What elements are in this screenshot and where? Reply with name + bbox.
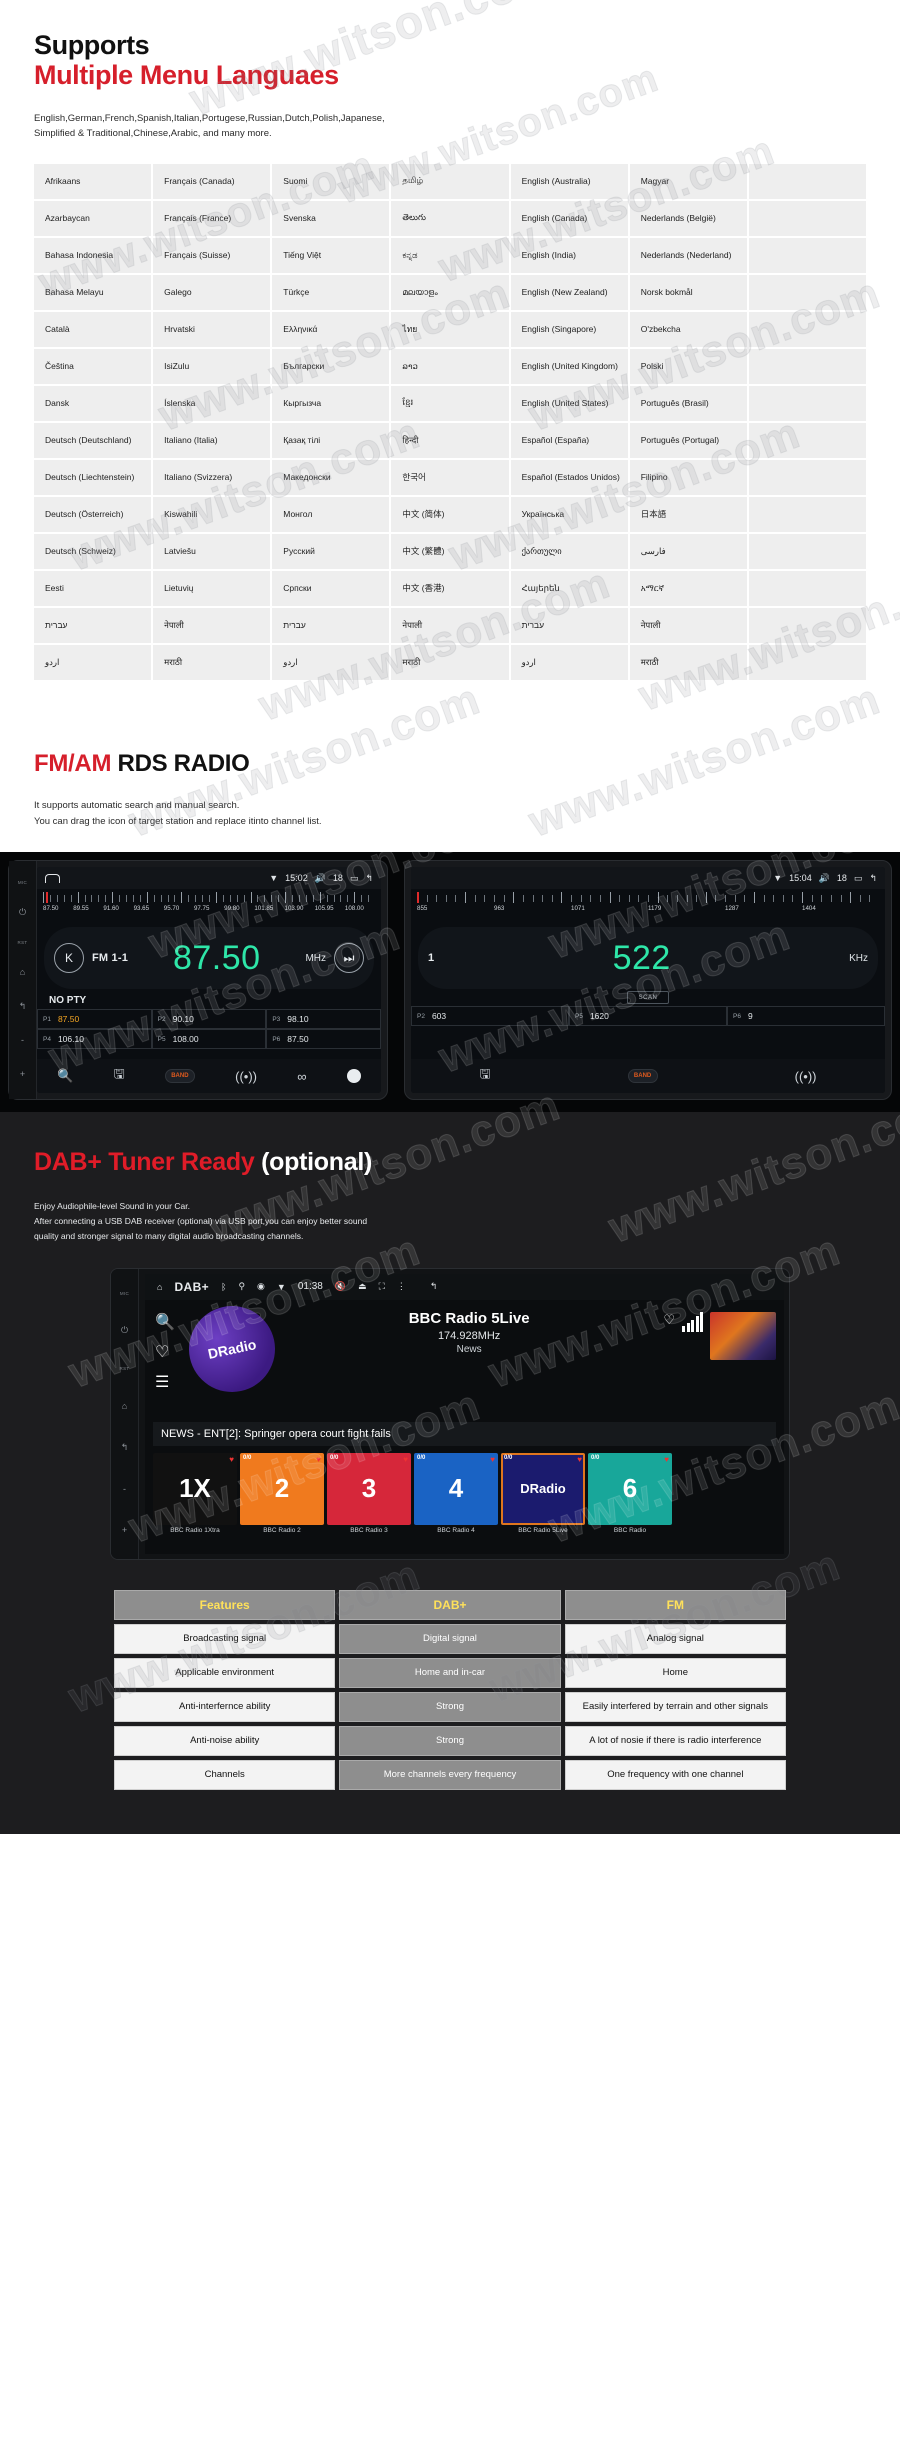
- am-tick-row: [417, 892, 879, 905]
- language-cell: English (New Zealand): [510, 274, 629, 311]
- am-frequency-unit: KHz: [849, 953, 868, 964]
- ruler-tick-label: 108.00: [345, 905, 375, 912]
- fm-description: It supports automatic search and manual …: [0, 798, 900, 830]
- dab-side-rail: MIC ⏻ RST ⌂ ↰ - +: [111, 1269, 139, 1559]
- comparison-cell: A lot of nosie if there is radio interfe…: [565, 1726, 786, 1756]
- language-cell: اردو: [271, 644, 390, 681]
- ruler-tick: [455, 895, 456, 902]
- station-glyph: 6: [623, 1473, 637, 1504]
- back-icon[interactable]: ↰: [118, 1441, 131, 1454]
- heart-icon[interactable]: ♥: [577, 1455, 582, 1464]
- fm-tuning-ruler[interactable]: 87.5089.5591.6093.6595.7097.7599.80101.8…: [37, 889, 381, 923]
- ruler-tick: [687, 895, 688, 902]
- language-cell: [748, 644, 867, 681]
- dab-description-line-3: quality and stronger signal to many digi…: [34, 1229, 900, 1244]
- language-cell: Español (Estados Unidos): [510, 459, 629, 496]
- preset-button[interactable]: P4106.10: [37, 1029, 152, 1049]
- station-slot-badge: 0/0: [504, 1455, 512, 1461]
- antenna-icon[interactable]: ((•)): [795, 1069, 817, 1084]
- power-icon[interactable]: ⏻: [16, 906, 29, 919]
- language-cell: 中文 (繁體): [390, 533, 509, 570]
- preset-button[interactable]: P398.10: [266, 1009, 381, 1029]
- ruler-tick-label: 963: [494, 905, 571, 912]
- ruler-tick: [764, 895, 765, 902]
- table-row: EestiLietuviųСрпски中文 (香港)Հայերենአማርኛ: [33, 570, 867, 607]
- eject-icon[interactable]: ⏏: [358, 1281, 367, 1292]
- wifi-icon: ▼: [773, 873, 782, 883]
- table-row: DanskÍslenskaКыргызчаខ្មែរEnglish (Unite…: [33, 385, 867, 422]
- fm-pty-label: NO PTY: [37, 989, 381, 1009]
- ruler-tick: [133, 895, 134, 902]
- am-preset-grid: P2603P51620P69: [411, 1006, 885, 1026]
- fm-frequency-display: 87.50: [136, 941, 297, 975]
- comparison-cell: Digital signal: [339, 1624, 560, 1654]
- ruler-tick: [161, 895, 162, 902]
- dab-station-tile[interactable]: 0/0♥6: [588, 1453, 672, 1525]
- ruler-tick-label: 91.60: [103, 905, 133, 912]
- comparison-cell: Anti-noise ability: [114, 1726, 335, 1756]
- loop-icon[interactable]: ∞: [297, 1069, 306, 1084]
- station-glyph: DRadio: [520, 1481, 566, 1496]
- preset-frequency: 106.10: [58, 1034, 84, 1044]
- am-ruler-labels: 8559631071117912871404: [417, 905, 879, 912]
- tuning-cursor[interactable]: [46, 892, 48, 903]
- preset-frequency: 9: [748, 1011, 753, 1021]
- fm-tick-row: [43, 892, 375, 905]
- favorite-icon[interactable]: ♡: [663, 1312, 675, 1328]
- ruler-tick: [264, 895, 265, 902]
- home-icon[interactable]: ⌂: [118, 1399, 131, 1412]
- heart-icon[interactable]: ♥: [490, 1455, 495, 1464]
- dab-station-tile[interactable]: 0/0♥2: [240, 1453, 324, 1525]
- preset-button[interactable]: P290.10: [152, 1009, 267, 1029]
- ruler-tick: [140, 895, 141, 902]
- ruler-tick: [821, 895, 822, 902]
- preset-button[interactable]: P5108.00: [152, 1029, 267, 1049]
- preset-button[interactable]: P687.50: [266, 1029, 381, 1049]
- ruler-tick: [648, 895, 649, 902]
- comparison-cell: Home: [565, 1658, 786, 1688]
- language-cell: עברית: [510, 607, 629, 644]
- heart-icon[interactable]: ♥: [664, 1455, 669, 1464]
- language-cell: Latviešu: [152, 533, 271, 570]
- band-button[interactable]: BAND: [165, 1069, 195, 1083]
- language-cell: اردو: [33, 644, 152, 681]
- ruler-tick-label: 89.55: [73, 905, 103, 912]
- dab-station-tile[interactable]: 0/0♥3: [327, 1453, 411, 1525]
- page-root: www.witson.com www.witson.com www.witson…: [0, 0, 900, 1834]
- tuning-cursor[interactable]: [417, 892, 419, 903]
- languages-section: www.witson.com www.witson.com www.witson…: [0, 0, 900, 716]
- ruler-tick: [64, 895, 65, 902]
- ruler-tick: [91, 895, 92, 902]
- ruler-tick: [361, 895, 362, 902]
- ruler-tick: [638, 895, 639, 902]
- comparison-cell: Analog signal: [565, 1624, 786, 1654]
- language-cell: Bahasa Melayu: [33, 274, 152, 311]
- ruler-tick: [513, 892, 514, 903]
- ruler-tick: [465, 892, 466, 903]
- languages-description: English,German,French,Spanish,Italian,Po…: [0, 112, 900, 141]
- language-cell: اردو: [510, 644, 629, 681]
- band-button[interactable]: BAND: [628, 1069, 658, 1083]
- home-icon[interactable]: ⌂: [157, 1282, 162, 1292]
- language-cell: Bahasa Indonesia: [33, 237, 152, 274]
- wifi-icon: ▼: [269, 873, 278, 883]
- volume-up-icon[interactable]: +: [16, 1068, 29, 1081]
- language-cell: ქართული: [510, 533, 629, 570]
- language-cell: Кыргызча: [271, 385, 390, 422]
- language-cell: Nederlands (Nederland): [629, 237, 748, 274]
- station-title: BBC Radio 5Live: [283, 1310, 655, 1327]
- table-row: AfrikaansFrançais (Canada)Suomiதமிழ்Engl…: [33, 163, 867, 200]
- language-cell: Español (España): [510, 422, 629, 459]
- language-cell: Català: [33, 311, 152, 348]
- language-cell: Čeština: [33, 348, 152, 385]
- language-cell: Français (Canada): [152, 163, 271, 200]
- ruler-tick: [202, 895, 203, 902]
- ruler-tick-label: 101.85: [254, 905, 284, 912]
- preset-frequency: 603: [432, 1011, 446, 1021]
- preset-button[interactable]: P69: [727, 1006, 885, 1026]
- dab-station-tile[interactable]: 0/0♥DRadio: [501, 1453, 585, 1525]
- search-icon[interactable]: 🔍: [57, 1068, 73, 1084]
- ruler-tick: [181, 892, 182, 903]
- ruler-tick: [533, 895, 534, 902]
- fm-volume-value: 18: [333, 873, 343, 883]
- language-cell: Монгол: [271, 496, 390, 533]
- ruler-tick: [523, 895, 524, 902]
- fm-screen: ▼ 15:02 🔊 18 ▭ ↰ 87.5089.5591.6093.6595.…: [37, 867, 381, 1093]
- station-glyph: 3: [362, 1473, 376, 1504]
- station-info: BBC Radio 5Live 174.928MHz News: [283, 1306, 655, 1418]
- ruler-tick: [725, 895, 726, 902]
- save-icon[interactable]: 🖫: [114, 1065, 125, 1087]
- comparison-cell: One frequency with one channel: [565, 1760, 786, 1790]
- preset-frequency: 90.10: [173, 1014, 194, 1024]
- ruler-tick: [223, 895, 224, 902]
- table-row: اردوमराठीاردوमराठीاردوमराठी: [33, 644, 867, 681]
- ruler-tick: [334, 895, 335, 902]
- volume-down-icon[interactable]: -: [16, 1034, 29, 1047]
- preset-number: P1: [43, 1016, 51, 1023]
- table-row: Deutsch (Schweiz)LatviešuРусский中文 (繁體)ქ…: [33, 533, 867, 570]
- ruler-tick-label: 1071: [571, 905, 648, 912]
- language-cell: Português (Brasil): [629, 385, 748, 422]
- comparison-cell: Broadcasting signal: [114, 1624, 335, 1654]
- language-cell: मराठी: [390, 644, 509, 681]
- ruler-tick: [561, 892, 562, 903]
- ruler-tick: [147, 892, 148, 903]
- language-cell: Հայերեն: [510, 570, 629, 607]
- language-cell: עברית: [33, 607, 152, 644]
- language-cell: தமிழ்: [390, 163, 509, 200]
- ruler-tick: [285, 892, 286, 903]
- language-cell: עברית: [271, 607, 390, 644]
- dab-description: Enjoy Audiophile-level Sound in your Car…: [0, 1199, 900, 1244]
- ruler-tick: [216, 892, 217, 903]
- ruler-tick: [677, 895, 678, 902]
- languages-description-line-1: English,German,French,Spanish,Italian,Po…: [34, 112, 900, 127]
- ruler-tick: [494, 895, 495, 902]
- preset-number: P5: [158, 1036, 166, 1043]
- mute-icon[interactable]: 🔇: [335, 1281, 346, 1292]
- preset-button[interactable]: P51620: [569, 1006, 727, 1026]
- signal-strength-icon: [682, 1312, 703, 1332]
- dab-station-name: BBC Radio 5Live: [501, 1527, 585, 1534]
- preset-frequency: 1620: [590, 1011, 609, 1021]
- ruler-tick: [320, 892, 321, 903]
- ruler-tick: [105, 895, 106, 902]
- language-cell: हिन्दी: [390, 422, 509, 459]
- preset-frequency: 108.00: [173, 1034, 199, 1044]
- preset-number: P3: [272, 1016, 280, 1023]
- volume-down-icon[interactable]: -: [118, 1482, 131, 1495]
- table-row: Deutsch (Liechtenstein)Italiano (Svizzer…: [33, 459, 867, 496]
- back-icon[interactable]: ↰: [430, 1281, 438, 1292]
- power-dot[interactable]: [347, 1069, 361, 1083]
- am-screen: ▼ 15:04 🔊 18 ▭ ↰ 8559631071117912871404 …: [411, 867, 885, 1093]
- mic-label: MIC: [120, 1291, 129, 1296]
- fm-side-rail: MIC ⏻ RST ⌂ ↰ - +: [9, 861, 37, 1099]
- language-cell: [748, 459, 867, 496]
- screenshot-icon[interactable]: ⛶: [379, 1281, 385, 1292]
- dab-station-names: BBC Radio 1XtraBBC Radio 2BBC Radio 3BBC…: [153, 1527, 776, 1534]
- next-station-button[interactable]: ⏭: [334, 943, 364, 973]
- page-title: Supports Multiple Menu Languaes: [0, 30, 900, 90]
- ruler-tick: [667, 895, 668, 902]
- station-glyph: 2: [275, 1473, 289, 1504]
- search-icon[interactable]: 🔍: [155, 1312, 175, 1332]
- ruler-tick: [619, 895, 620, 902]
- preset-button[interactable]: P187.50: [37, 1009, 152, 1029]
- language-cell: [748, 570, 867, 607]
- ruler-tick-label: 99.80: [224, 905, 254, 912]
- ruler-tick: [340, 895, 341, 902]
- language-cell: ລາວ: [390, 348, 509, 385]
- preset-frequency: 87.50: [58, 1014, 79, 1024]
- rst-label: RST: [120, 1366, 130, 1371]
- ruler-tick: [174, 895, 175, 902]
- fm-ruler-labels: 87.5089.5591.6093.6595.7097.7599.80101.8…: [43, 905, 375, 912]
- volume-up-icon[interactable]: +: [118, 1524, 131, 1537]
- language-cell: English (United States): [510, 385, 629, 422]
- ruler-tick: [860, 895, 861, 902]
- station-slot-badge: 0/0: [417, 1455, 425, 1461]
- language-cell: 日本語: [629, 496, 748, 533]
- back-icon[interactable]: ↰: [869, 873, 877, 884]
- dab-screen: ⌂ DAB+ ᛒ ⚲ ◉ ▼ 01:38 🔇 ⏏ ⛶ ⋮ ↰ 🔍: [145, 1274, 784, 1554]
- scan-button[interactable]: SCAN: [627, 991, 669, 1004]
- language-cell: Norsk bokmål: [629, 274, 748, 311]
- radio-screenshot-strip: www.witson.com www.witson.com www.witson…: [0, 852, 900, 1112]
- language-cell: አማርኛ: [629, 570, 748, 607]
- list-icon[interactable]: ☰: [155, 1372, 175, 1392]
- ruler-tick: [119, 895, 120, 902]
- table-row: Applicable environmentHome and in-carHom…: [114, 1658, 786, 1688]
- language-cell: [748, 237, 867, 274]
- languages-table: AfrikaansFrançais (Canada)Suomiதமிழ்Engl…: [32, 162, 868, 682]
- fm-band-label: FM 1-1: [92, 952, 128, 964]
- ruler-tick: [368, 895, 369, 902]
- language-cell: Русский: [271, 533, 390, 570]
- antenna-icon[interactable]: ((•)): [235, 1069, 257, 1084]
- dab-station-name: BBC Radio 1Xtra: [153, 1527, 237, 1534]
- language-cell: Afrikaans: [33, 163, 152, 200]
- language-cell: Nederlands (België): [629, 200, 748, 237]
- language-cell: Lietuvių: [152, 570, 271, 607]
- language-cell: Íslenska: [152, 385, 271, 422]
- station-logo: DRadio: [181, 1298, 283, 1400]
- ruler-tick: [773, 895, 774, 902]
- am-status-bar: ▼ 15:04 🔊 18 ▭ ↰: [411, 867, 885, 889]
- station-genre: News: [283, 1344, 655, 1355]
- power-icon[interactable]: ⏻: [118, 1324, 131, 1337]
- fm-frequency-unit: MHz: [305, 953, 326, 964]
- heart-icon[interactable]: ♥: [316, 1455, 321, 1464]
- heart-icon[interactable]: ♥: [403, 1455, 408, 1464]
- language-cell: [748, 607, 867, 644]
- ruler-tick: [71, 895, 72, 902]
- language-cell: Українська: [510, 496, 629, 533]
- dab-title: DAB+ Tuner Ready (optional): [0, 1148, 900, 1177]
- language-cell: ខ្មែរ: [390, 385, 509, 422]
- ruler-tick: [504, 895, 505, 902]
- language-cell: Polski: [629, 348, 748, 385]
- language-cell: नेपाली: [152, 607, 271, 644]
- home-icon[interactable]: ⌂: [16, 966, 29, 979]
- volume-icon: 🔊: [819, 873, 830, 884]
- ruler-tick: [188, 895, 189, 902]
- table-row: Anti-noise abilityStrongA lot of nosie i…: [114, 1726, 786, 1756]
- am-clock: 15:04: [789, 873, 812, 883]
- language-cell: [748, 533, 867, 570]
- comparison-column-header: FM: [565, 1590, 786, 1620]
- languages-description-line-2: Simplified & Traditional,Chinese,Arabic,…: [34, 127, 900, 142]
- headline-line-2: Multiple Menu Languaes: [34, 60, 900, 90]
- preset-number: P6: [733, 1013, 741, 1020]
- ruler-tick: [610, 892, 611, 903]
- ruler-tick: [735, 895, 736, 902]
- preset-button[interactable]: P2603: [411, 1006, 569, 1026]
- ruler-tick: [590, 895, 591, 902]
- table-row: ChannelsMore channels every frequencyOne…: [114, 1760, 786, 1790]
- battery-icon: ▭: [350, 873, 359, 884]
- fm-frequency-panel: K FM 1-1 87.50 MHz ⏭: [44, 927, 374, 989]
- fm-status-bar: ▼ 15:02 🔊 18 ▭ ↰: [37, 867, 381, 889]
- location-icon: ◉: [257, 1281, 265, 1292]
- back-icon[interactable]: ↰: [365, 873, 373, 884]
- overflow-menu-icon[interactable]: ⋮: [397, 1281, 406, 1292]
- dab-station-tile[interactable]: ♥1X: [153, 1453, 237, 1525]
- language-cell: [748, 422, 867, 459]
- am-volume-value: 18: [837, 873, 847, 883]
- language-cell: 中文 (香港): [390, 570, 509, 607]
- table-row: עבריתनेपालीעבריתनेपालीעבריתनेपाली: [33, 607, 867, 644]
- dab-title-red: DAB+ Tuner Ready: [34, 1148, 254, 1176]
- mic-label: MIC: [18, 880, 27, 885]
- table-row: Deutsch (Österreich)KiswahiliМонгол中文 (简…: [33, 496, 867, 533]
- ruler-tick: [831, 895, 832, 902]
- am-band-label: 1: [428, 952, 434, 964]
- ruler-tick-label: 93.65: [134, 905, 164, 912]
- table-row: Bahasa MelayuGalegoTürkçeമലയാളംEnglish (…: [33, 274, 867, 311]
- ruler-tick: [600, 895, 601, 902]
- comparison-cell: Anti-interfernce ability: [114, 1692, 335, 1722]
- language-cell: English (Australia): [510, 163, 629, 200]
- language-cell: English (Singapore): [510, 311, 629, 348]
- ruler-tick-label: 87.50: [43, 905, 73, 912]
- ruler-tick: [436, 895, 437, 902]
- ruler-tick: [841, 895, 842, 902]
- ruler-tick: [850, 892, 851, 903]
- am-tuning-ruler[interactable]: 8559631071117912871404: [411, 889, 885, 923]
- ruler-tick: [209, 895, 210, 902]
- ruler-tick: [552, 895, 553, 902]
- fm-radio-section: www.witson.com www.witson.com FM/AM RDS …: [0, 716, 900, 1112]
- ruler-tick-label: 105.95: [315, 905, 345, 912]
- language-cell: [748, 496, 867, 533]
- language-cell: [748, 311, 867, 348]
- language-cell: Français (France): [152, 200, 271, 237]
- language-cell: नेपाली: [629, 607, 748, 644]
- am-bottom-toolbar: 🖫 BAND ((•)): [411, 1059, 885, 1093]
- language-cell: Kiswahili: [152, 496, 271, 533]
- ruler-tick: [571, 895, 572, 902]
- ruler-tick: [168, 895, 169, 902]
- ruler-tick: [484, 895, 485, 902]
- language-cell: Italiano (Italia): [152, 422, 271, 459]
- ruler-tick-label: 1404: [802, 905, 879, 912]
- language-cell: O'zbekcha: [629, 311, 748, 348]
- language-cell: Filipino: [629, 459, 748, 496]
- favorite-icon[interactable]: ♡: [155, 1342, 175, 1362]
- dab-station-name: BBC Radio: [588, 1527, 672, 1534]
- language-cell: Қазақ тілі: [271, 422, 390, 459]
- save-icon[interactable]: 🖫: [480, 1065, 491, 1087]
- station-glyph: 4: [449, 1473, 463, 1504]
- language-cell: Български: [271, 348, 390, 385]
- dab-station-tile[interactable]: 0/0♥4: [414, 1453, 498, 1525]
- ruler-tick-label: 1287: [725, 905, 802, 912]
- station-slot-badge: 0/0: [591, 1455, 599, 1461]
- ruler-tick-label: 855: [417, 905, 494, 912]
- heart-icon[interactable]: ♥: [229, 1455, 234, 1464]
- language-cell: ไทย: [390, 311, 509, 348]
- rst-label: RST: [18, 940, 28, 945]
- preset-number: P4: [43, 1036, 51, 1043]
- prev-station-button[interactable]: K: [54, 943, 84, 973]
- ruler-tick: [802, 892, 803, 903]
- language-cell: Português (Portugal): [629, 422, 748, 459]
- language-cell: Tiếng Việt: [271, 237, 390, 274]
- table-row: AzarbaycanFrançais (France)Svenskaతెలుగు…: [33, 200, 867, 237]
- home-icon[interactable]: [45, 874, 60, 883]
- dab-station-row: ♥1X0/0♥20/0♥30/0♥40/0♥DRadio0/0♥6: [153, 1453, 776, 1525]
- comparison-header-row: FeaturesDAB+FM: [114, 1590, 786, 1620]
- language-cell: Türkçe: [271, 274, 390, 311]
- ruler-tick: [126, 895, 127, 902]
- ruler-tick: [581, 895, 582, 902]
- ruler-tick: [706, 892, 707, 903]
- comparison-cell: Channels: [114, 1760, 335, 1790]
- ruler-tick: [78, 892, 79, 903]
- language-cell: Français (Suisse): [152, 237, 271, 274]
- language-cell: मराठी: [152, 644, 271, 681]
- comparison-cell: Applicable environment: [114, 1658, 335, 1688]
- back-icon[interactable]: ↰: [16, 1000, 29, 1013]
- ruler-tick: [251, 892, 252, 903]
